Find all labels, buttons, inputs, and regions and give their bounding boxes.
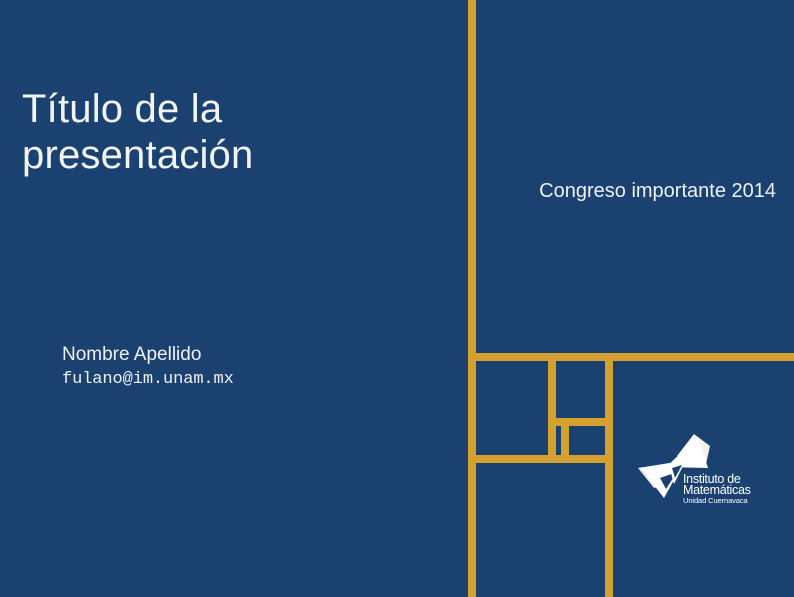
event-name: Congreso importante 2014 xyxy=(486,180,776,203)
author-name: Nombre Apellido xyxy=(62,342,234,368)
title-slide: Título de la presentación Congreso impor… xyxy=(0,0,794,597)
accent-line-lower-horizontal xyxy=(468,455,613,463)
accent-line-inner-vertical-b xyxy=(605,353,613,597)
accent-line-main-vertical xyxy=(468,0,476,597)
author-email: fulano@im.unam.mx xyxy=(62,368,234,393)
accent-line-nested-horizontal xyxy=(548,418,613,426)
institute-logo: Instituto de Matemáticas Unidad Cuernava… xyxy=(636,428,776,516)
slide-title: Título de la presentación xyxy=(22,86,452,178)
accent-line-stub-vertical xyxy=(561,425,569,463)
accent-line-upper-horizontal xyxy=(468,353,794,361)
logo-line-3: Unidad Cuernavaca xyxy=(683,496,748,505)
accent-line-inner-vertical-a xyxy=(548,353,556,463)
logo-line-2: Matemáticas xyxy=(683,483,751,497)
author-block: Nombre Apellido fulano@im.unam.mx xyxy=(62,342,234,392)
